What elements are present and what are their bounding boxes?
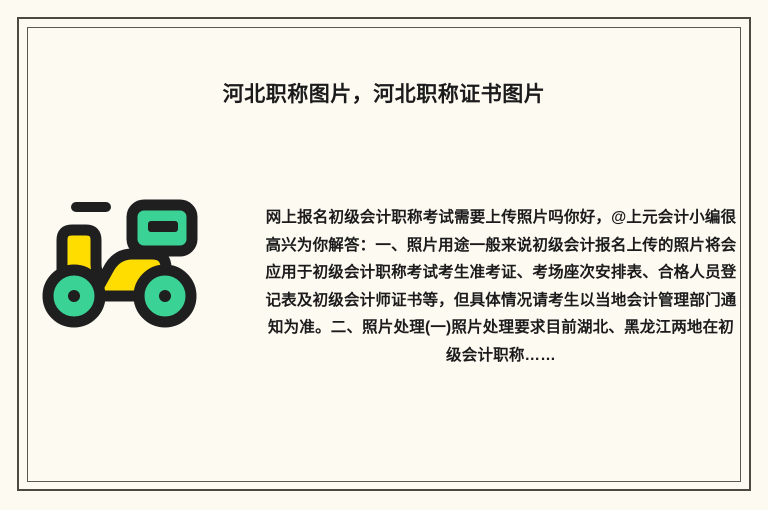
page-title: 河北职称图片，河北职称证书图片 <box>0 80 768 110</box>
scooter-illustration <box>40 192 206 332</box>
article-card: 河北职称图片，河北职称证书图片 网上报名初级会计职称考试需要上传照片吗你好，@上… <box>0 0 768 510</box>
scooter-icon <box>40 192 206 332</box>
article-body: 网上报名初级会计职称考试需要上传照片吗你好，@上元会计小编很高兴为你解答：一、照… <box>265 204 737 369</box>
